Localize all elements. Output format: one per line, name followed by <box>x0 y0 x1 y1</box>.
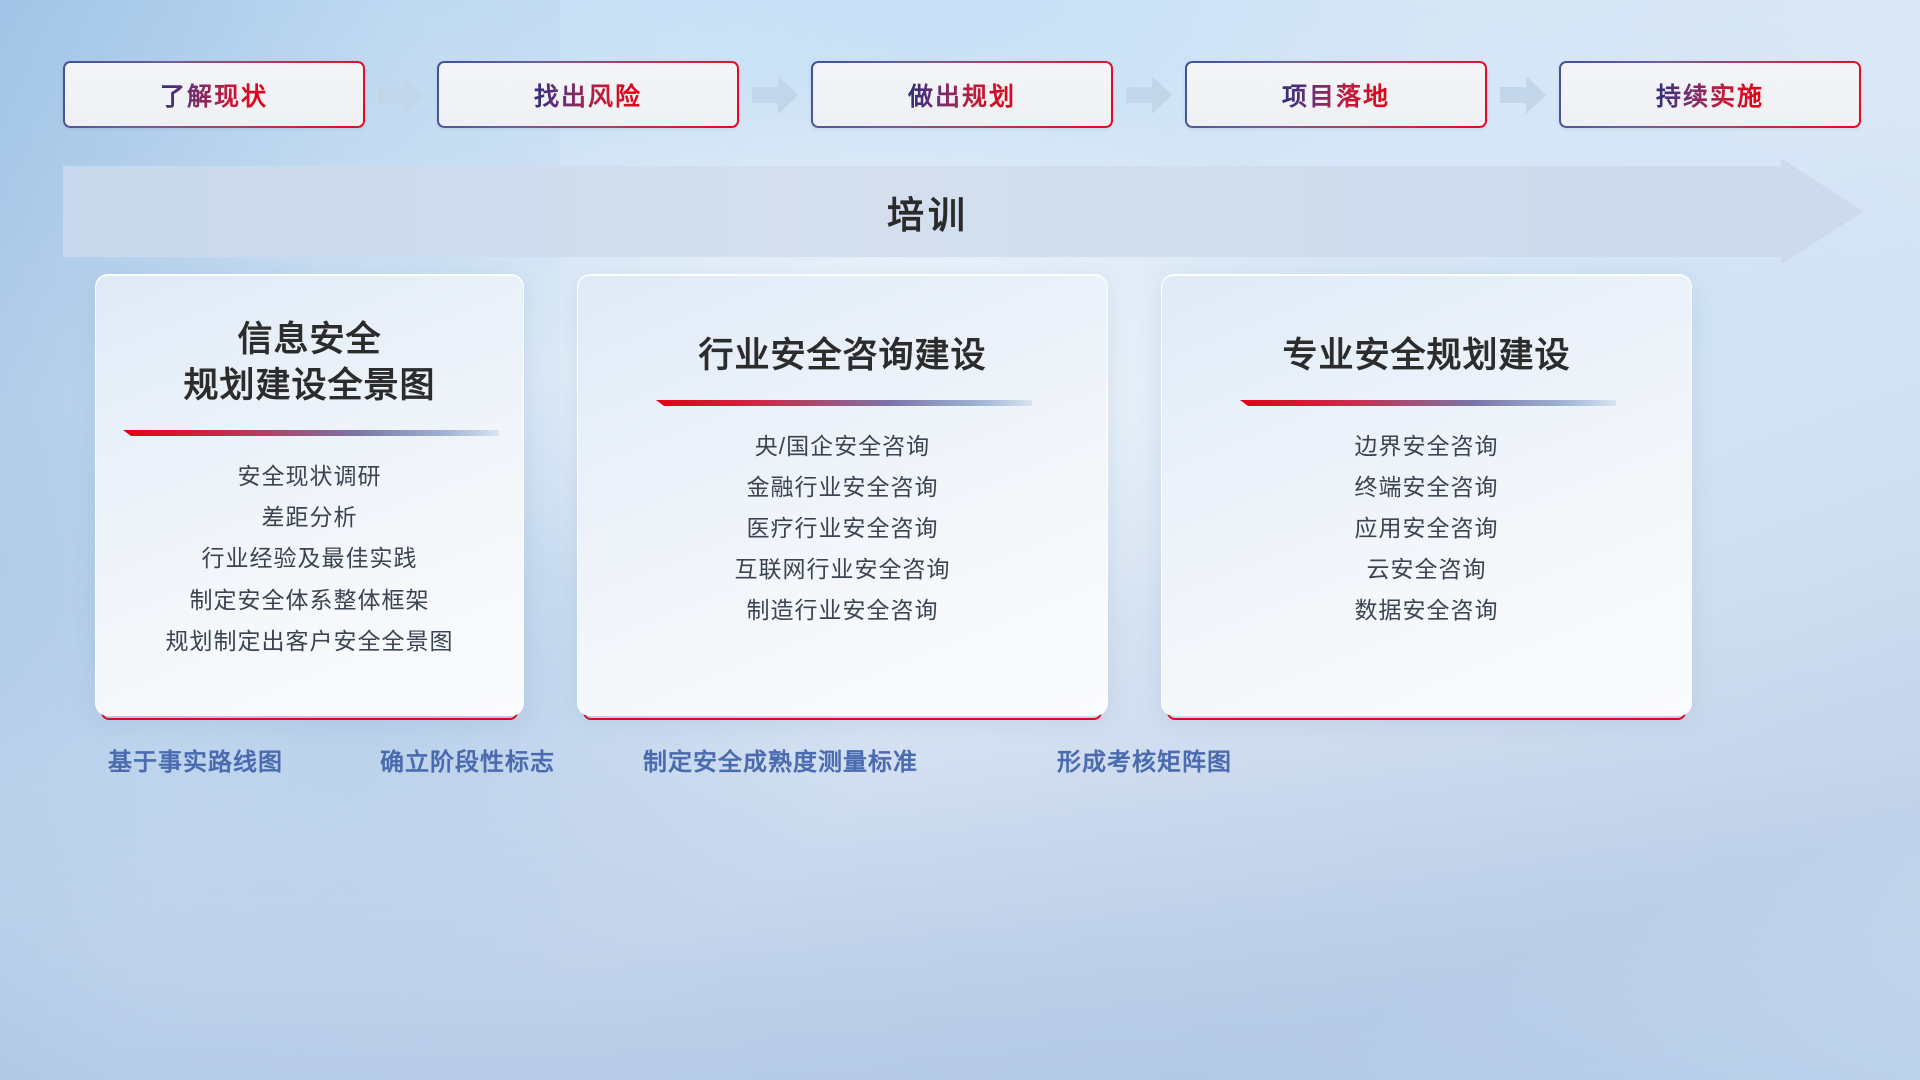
card-list: 边界安全咨询 终端安全咨询 应用安全咨询 云安全咨询 数据安全咨询 <box>1162 431 1691 626</box>
card-list-item: 行业经验及最佳实践 <box>202 543 418 574</box>
process-step-label: 找出风险 <box>534 77 642 113</box>
arrow-right-icon <box>739 61 811 128</box>
arrow-right-icon <box>1487 61 1559 128</box>
card-list-item: 医疗行业安全咨询 <box>747 513 939 544</box>
card-industry-consulting[interactable]: 行业安全咨询建设 央/国企安全咨询 金融行业安全咨询 医疗行业安全咨询 <box>577 274 1108 716</box>
card-divider-icon <box>121 427 499 439</box>
card-title: 信息安全 规划建设全景图 <box>183 317 435 409</box>
process-step-5[interactable]: 持续实施 <box>1559 61 1861 128</box>
card-list-item: 安全现状调研 <box>238 461 382 492</box>
card-list-item: 互联网行业安全咨询 <box>735 554 951 585</box>
card-list-item: 云安全咨询 <box>1367 554 1487 585</box>
card-list-item: 规划制定出客户安全全景图 <box>166 626 454 657</box>
card-list-item: 终端安全咨询 <box>1355 472 1499 503</box>
arrow-right-icon <box>1113 61 1185 128</box>
card-divider-icon <box>654 397 1032 409</box>
card-list-item: 边界安全咨询 <box>1355 431 1499 462</box>
card-list-item: 数据安全咨询 <box>1355 595 1499 626</box>
process-step-label: 项目落地 <box>1282 77 1390 113</box>
footer-label: 基于事实路线图 <box>108 742 283 777</box>
card-list: 央/国企安全咨询 金融行业安全咨询 医疗行业安全咨询 互联网行业安全咨询 制造行… <box>578 431 1107 626</box>
process-step-label: 持续实施 <box>1656 77 1764 113</box>
card-list-item: 制定安全体系整体框架 <box>190 585 430 616</box>
arrow-right-icon <box>365 61 437 128</box>
card-list-item: 差距分析 <box>262 502 358 533</box>
card-professional-planning[interactable]: 专业安全规划建设 边界安全咨询 终端安全咨询 应用安全咨询 云安全 <box>1161 274 1692 716</box>
card-title: 行业安全咨询建设 <box>698 333 986 379</box>
card-row: 信息安全 规划建设全景图 安全现状调研 差距分析 行业经验及最佳实践 <box>95 274 1835 716</box>
banner-title: 培训 <box>63 158 1793 265</box>
footer-label: 确立阶段性标志 <box>380 742 555 777</box>
process-step-2[interactable]: 找出风险 <box>437 61 739 128</box>
card-title: 专业安全规划建设 <box>1282 333 1570 379</box>
process-step-1[interactable]: 了解现状 <box>63 61 365 128</box>
card-list-item: 央/国企安全咨询 <box>755 431 930 462</box>
background-bottom-tint <box>0 750 1920 1080</box>
card-list-item: 制造行业安全咨询 <box>747 595 939 626</box>
footer-label: 制定安全成熟度测量标准 <box>643 742 918 777</box>
card-body: 专业安全规划建设 边界安全咨询 终端安全咨询 应用安全咨询 云安全 <box>1161 274 1692 716</box>
card-body: 行业安全咨询建设 央/国企安全咨询 金融行业安全咨询 医疗行业安全咨询 <box>577 274 1108 716</box>
process-step-row: 了解现状 找出风险 做出规划 项目落地 持续实施 <box>63 61 1863 128</box>
process-step-label: 做出规划 <box>908 77 1016 113</box>
training-banner: 培训 <box>63 158 1863 265</box>
card-information-security[interactable]: 信息安全 规划建设全景图 安全现状调研 差距分析 行业经验及最佳实践 <box>95 274 524 716</box>
card-body: 信息安全 规划建设全景图 安全现状调研 差距分析 行业经验及最佳实践 <box>95 274 524 716</box>
process-step-label: 了解现状 <box>160 77 268 113</box>
process-step-4[interactable]: 项目落地 <box>1185 61 1487 128</box>
card-list-item: 应用安全咨询 <box>1355 513 1499 544</box>
footer-label: 形成考核矩阵图 <box>1057 742 1232 777</box>
card-list-item: 金融行业安全咨询 <box>747 472 939 503</box>
process-step-3[interactable]: 做出规划 <box>811 61 1113 128</box>
card-divider-icon <box>1238 397 1616 409</box>
footer-label-row: 基于事实路线图 确立阶段性标志 制定安全成熟度测量标准 形成考核矩阵图 <box>0 742 1920 792</box>
card-list: 安全现状调研 差距分析 行业经验及最佳实践 制定安全体系整体框架 规划制定出客户… <box>96 461 523 656</box>
